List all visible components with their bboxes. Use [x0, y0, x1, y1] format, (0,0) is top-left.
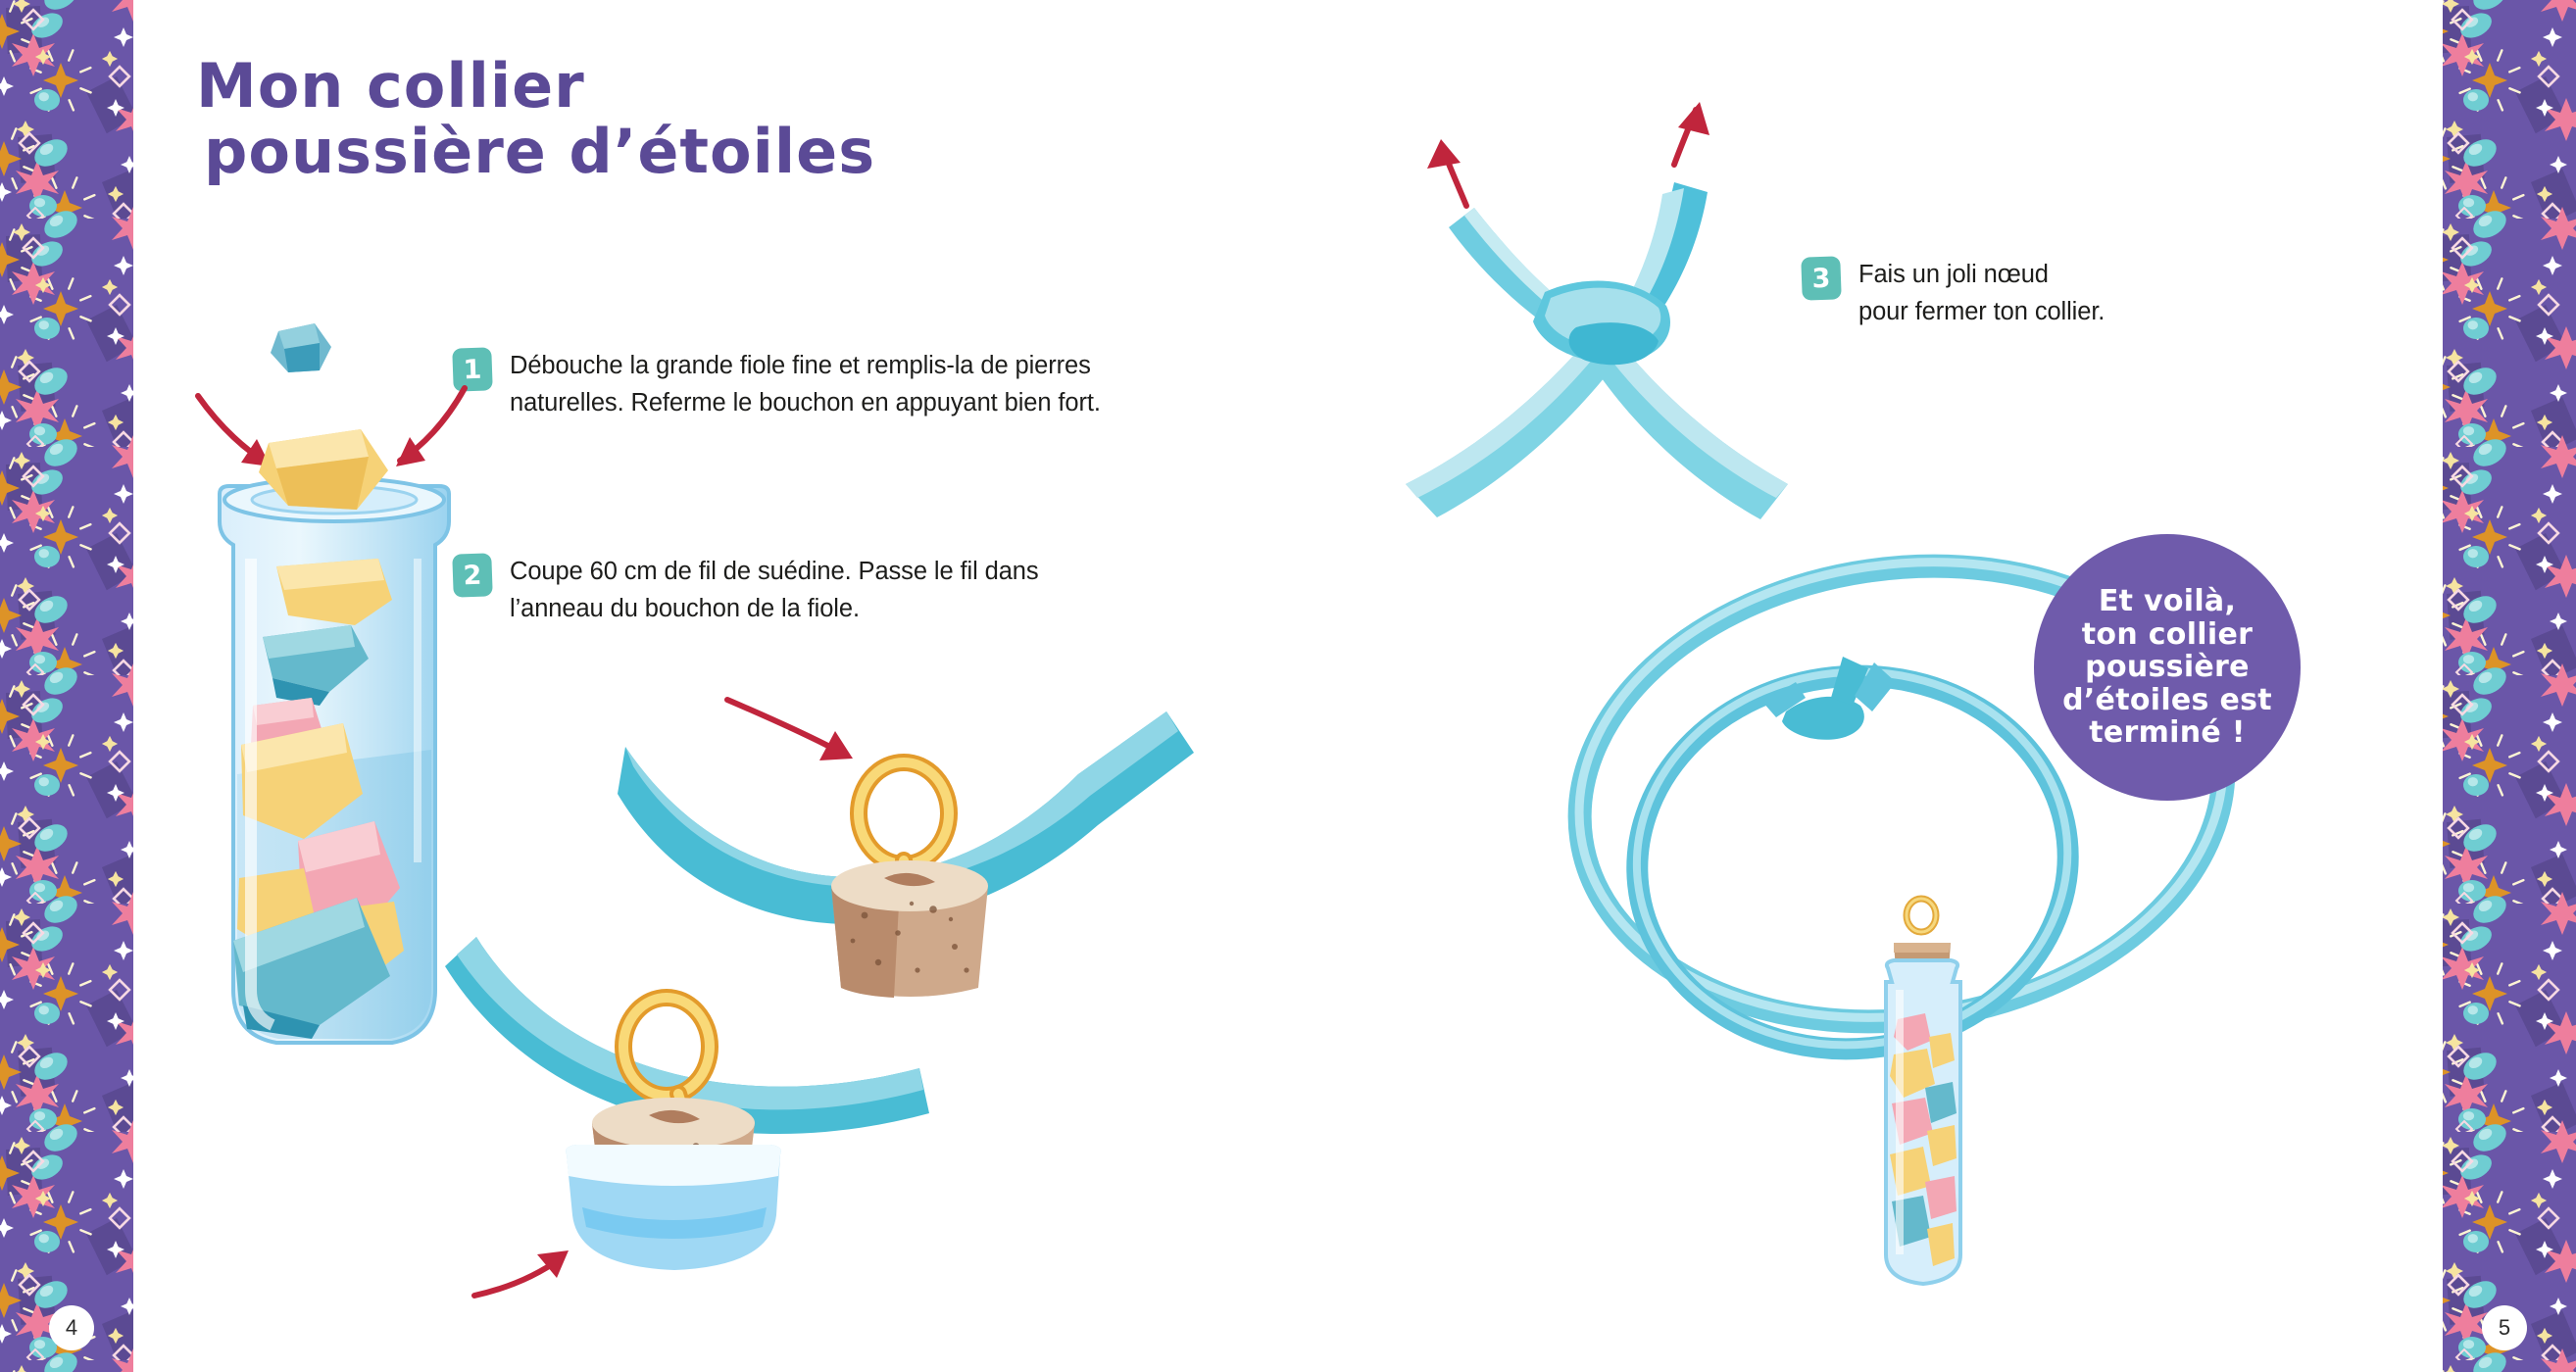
border-pattern-tile [0, 675, 147, 904]
border-pattern-row [2429, 219, 2576, 447]
title-line-2: poussière d’étoiles [204, 120, 875, 185]
border-pattern-tile [0, 1360, 147, 1372]
step-instruction-text: Fais un joli nœud pour fermer ton collie… [1858, 257, 2105, 330]
border-pattern-tile [0, 904, 147, 1132]
border-pattern-row [2429, 447, 2576, 675]
border-pattern-row [0, 219, 147, 447]
decorative-border-left [0, 0, 147, 1372]
falling-stone [271, 323, 331, 372]
step-instruction-text: Débouche la grande fiole fine et remplis… [510, 348, 1101, 421]
border-pattern-tile [2429, 219, 2576, 447]
book-spread: 4 5 Mon collier poussière d’étoiles 1 Dé… [0, 0, 2576, 1372]
finished-callout-bubble: Et voilà, ton collier poussière d’étoile… [2034, 534, 2301, 801]
bottle-top-glass [566, 1145, 781, 1270]
arrow-up-left-icon [1427, 139, 1466, 206]
border-pattern-tile [2429, 1360, 2576, 1372]
border-pattern-tile [0, 219, 147, 447]
step-1: 1 Débouche la grande fiole fine et rempl… [453, 348, 1159, 421]
page-title: Mon collier poussière d’étoiles [196, 54, 875, 185]
step-3: 3 Fais un joli nœud pour fermer ton coll… [1802, 257, 2311, 330]
page-number-left: 4 [49, 1305, 94, 1350]
title-line-1: Mon collier [196, 50, 585, 122]
arrow-left-icon [198, 396, 271, 466]
arrow-up-right-icon [1674, 102, 1709, 165]
border-pattern-row [0, 1360, 147, 1372]
page-number-right: 5 [2482, 1305, 2527, 1350]
border-pattern-row [2429, 1360, 2576, 1372]
border-pattern-tile [0, 447, 147, 675]
arrow-right-icon [396, 388, 465, 466]
border-pattern-row [2429, 675, 2576, 904]
step-2: 2 Coupe 60 cm de fil de suédine. Passe l… [453, 554, 1159, 627]
border-pattern-tile [2429, 904, 2576, 1132]
arrow-icon [727, 700, 853, 760]
cork-ring-ribbon-lower-illustration [439, 921, 968, 1313]
border-pattern-tile [2429, 0, 2576, 219]
decorative-border-right [2429, 0, 2576, 1372]
border-pattern-row [2429, 0, 2576, 219]
border-pattern-row [0, 904, 147, 1132]
step-instruction-text: Coupe 60 cm de fil de suédine. Passe le … [510, 554, 1039, 627]
border-gutter-left [133, 0, 147, 1372]
border-gutter-right [2429, 0, 2443, 1372]
border-pattern-row [0, 675, 147, 904]
border-pattern-row [2429, 904, 2576, 1132]
border-pattern-tile [2429, 447, 2576, 675]
border-pattern-row [0, 447, 147, 675]
border-pattern-row [0, 0, 147, 219]
pendant-ring [1907, 899, 1936, 932]
border-pattern-tile [0, 0, 147, 219]
arrow-icon [474, 1250, 569, 1296]
pendant-bottle [1886, 943, 1960, 1284]
ribbon-knot-illustration [1372, 88, 1823, 529]
border-pattern-tile [2429, 675, 2576, 904]
